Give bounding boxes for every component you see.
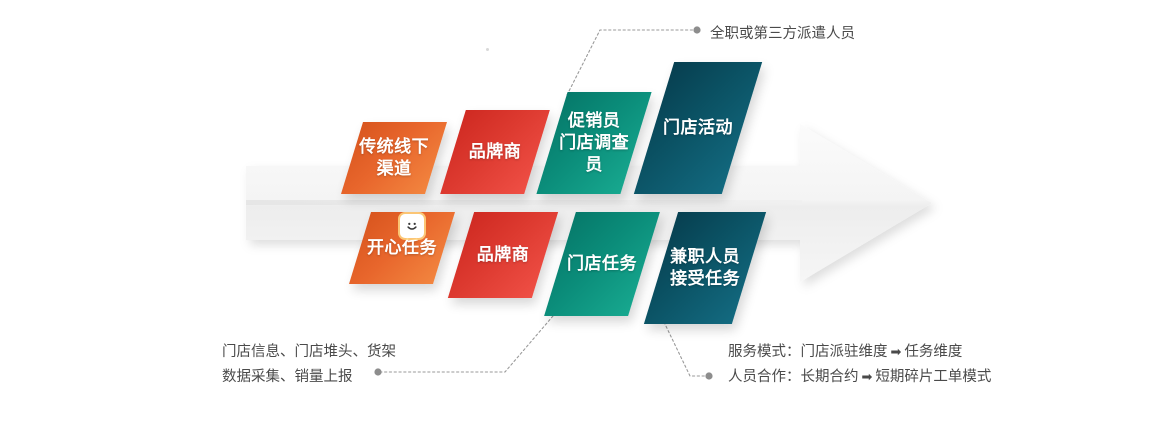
stage-label: 兼职人员 接受任务 [670, 246, 740, 290]
callout-text: 短期碎片工单模式 [875, 369, 991, 385]
diagram-canvas: 传统线下 渠道 品牌商 促销员 门店调查员 门店活动 开心任务 品牌商 [0, 0, 1150, 430]
callout-top-right: 全职或第三方派遣人员 [710, 22, 855, 47]
stage-label: 品牌商 [477, 244, 530, 266]
callout-text: 数据采集、销量上报 [222, 369, 353, 385]
callout-bottom-right: 服务模式：门店派驻维度➡任务维度 人员合作：长期合约➡短期碎片工单模式 [728, 340, 991, 391]
stage-label: 传统线下 渠道 [359, 136, 429, 180]
callout-text: 人员合作：长期合约 [728, 369, 859, 385]
stage-label: 促销员 门店调查员 [552, 110, 636, 175]
stage-label: 门店任务 [567, 253, 637, 275]
stage-box-store-task[interactable]: 门店任务 [544, 212, 660, 316]
stage-box-store-activity[interactable]: 门店活动 [634, 62, 762, 194]
right-arrow-icon: ➡ [888, 345, 905, 360]
callout-line: 人员合作：长期合约➡短期碎片工单模式 [728, 365, 991, 390]
stage-label: 门店活动 [663, 117, 733, 139]
callout-line: 门店信息、门店堆头、货架 [222, 340, 396, 365]
stage-box-traditional-offline-channel[interactable]: 传统线下 渠道 [341, 122, 447, 194]
stage-box-parttime-accept-task[interactable]: 兼职人员 接受任务 [644, 212, 766, 324]
leader-bottom-left [380, 316, 553, 372]
stage-label: 开心任务 [367, 237, 437, 259]
smiley-face-icon [400, 214, 424, 238]
callout-text: 任务维度 [904, 344, 962, 360]
right-arrow-icon: ➡ [859, 370, 876, 385]
callout-line: 数据采集、销量上报 [222, 365, 396, 390]
callout-line: 服务模式：门店派驻维度➡任务维度 [728, 340, 991, 365]
callout-text: 门店信息、门店堆头、货架 [222, 344, 396, 360]
callout-line: 全职或第三方派遣人员 [710, 22, 855, 47]
stage-label: 品牌商 [469, 141, 522, 163]
stage-box-promoter-store-surveyor[interactable]: 促销员 门店调查员 [536, 92, 651, 194]
leader-dot-bottom-right [705, 372, 712, 379]
leader-dot-top-right [693, 26, 700, 33]
stage-box-brand-owner-top[interactable]: 品牌商 [440, 110, 550, 194]
callout-text: 全职或第三方派遣人员 [710, 26, 855, 42]
stage-box-brand-owner-bottom[interactable]: 品牌商 [448, 212, 558, 298]
leader-bottom-right [664, 322, 706, 376]
callout-bottom-left: 门店信息、门店堆头、货架 数据采集、销量上报 [222, 340, 396, 391]
callout-text: 服务模式：门店派驻维度 [728, 344, 888, 360]
speck-artifact [486, 48, 489, 51]
